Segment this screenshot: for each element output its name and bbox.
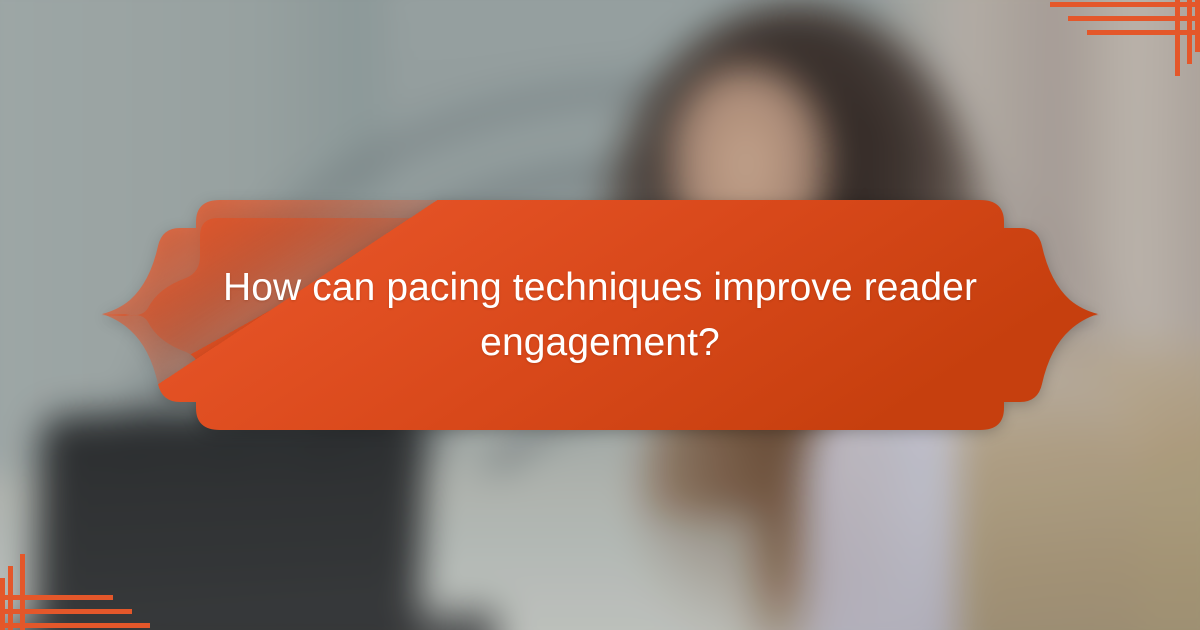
share-card-canvas: How can pacing techniques improve reader…	[0, 0, 1200, 630]
question-text: How can pacing techniques improve reader…	[210, 196, 990, 434]
corner-bracket-bottom-left-line-3	[0, 595, 113, 600]
corner-bracket-top-right-line-4	[1175, 0, 1180, 76]
corner-bracket-bottom-left-line-6	[0, 578, 5, 630]
corner-bracket-top-right-line-6	[1195, 0, 1200, 52]
question-banner: How can pacing techniques improve reader…	[100, 196, 1100, 434]
corner-bracket-bottom-left-line-5	[8, 566, 13, 630]
corner-bracket-bottom-left-line-4	[20, 554, 25, 630]
corner-bracket-top-right-line-2	[1068, 16, 1200, 21]
corner-bracket-top-right-line-5	[1187, 0, 1192, 64]
corner-bracket-top-right-line-3	[1087, 30, 1200, 35]
